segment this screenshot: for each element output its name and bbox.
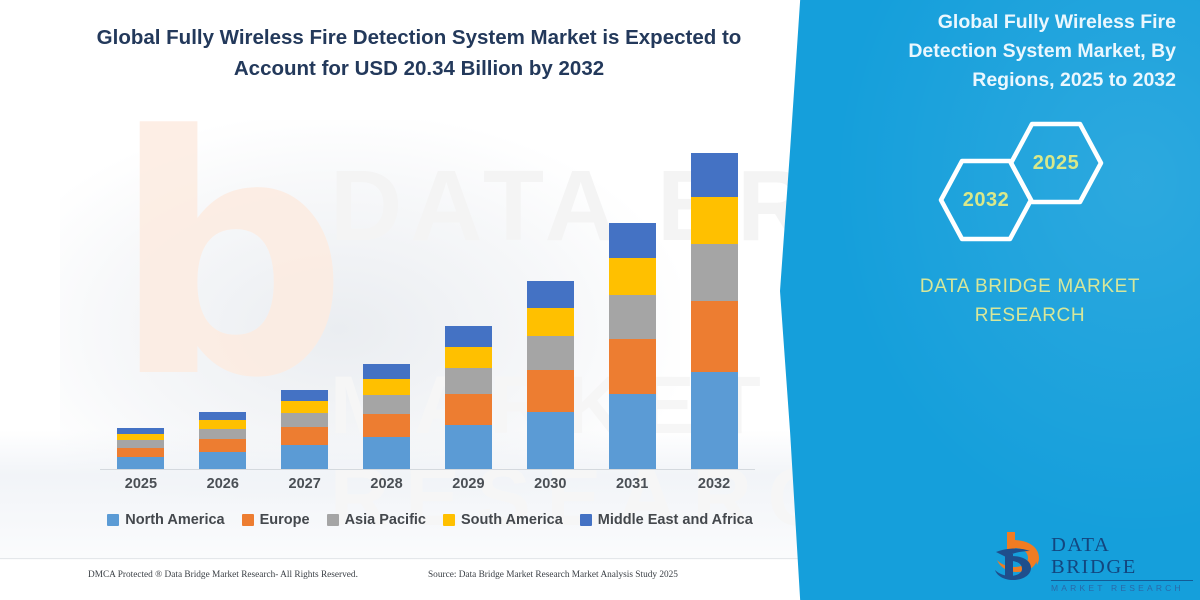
stacked-bar — [117, 428, 164, 469]
stacked-bar — [281, 390, 328, 469]
bar-segment — [609, 223, 656, 258]
legend-item[interactable]: Europe — [242, 512, 310, 528]
stacked-bar — [199, 412, 246, 469]
x-axis-label: 2026 — [182, 476, 264, 492]
x-axis-labels: 20252026202720282029203020312032 — [100, 476, 755, 492]
bar-segment — [609, 258, 656, 295]
bar-segment — [445, 394, 492, 426]
bar-segment — [691, 197, 738, 244]
legend-swatch-icon — [327, 514, 339, 526]
legend-label: North America — [125, 512, 224, 528]
hexagon-2025-label: 2025 — [1033, 152, 1080, 175]
bar-segment — [609, 394, 656, 469]
legend-label: Europe — [260, 512, 310, 528]
bar-segment — [281, 427, 328, 445]
chart-legend: North AmericaEuropeAsia PacificSouth Ame… — [100, 512, 760, 528]
bar-segment — [363, 364, 410, 379]
company-logo: DATA BRIDGE MARKET RESEARCH — [993, 528, 1193, 584]
right-panel-title: Global Fully Wireless Fire Detection Sys… — [846, 8, 1176, 95]
bar-segment — [445, 425, 492, 469]
bar-segment — [199, 452, 246, 469]
hexagon-2025: 2025 — [1008, 121, 1104, 205]
bar-segment — [445, 347, 492, 368]
stacked-bar — [691, 153, 738, 469]
legend-swatch-icon — [580, 514, 592, 526]
chart-column — [509, 141, 591, 469]
bar-segment — [199, 420, 246, 429]
bar-segment — [363, 395, 410, 414]
legend-swatch-icon — [443, 514, 455, 526]
logo-name-bottom: MARKET RESEARCH — [1051, 583, 1193, 594]
bar-segment — [527, 308, 574, 336]
x-axis-label: 2030 — [509, 476, 591, 492]
page-title: Global Fully Wireless Fire Detection Sys… — [56, 22, 782, 84]
chart-column — [346, 141, 428, 469]
bar-segment — [527, 281, 574, 307]
x-axis-line — [100, 469, 755, 470]
bar-segment — [363, 437, 410, 469]
chart-column — [264, 141, 346, 469]
legend-item[interactable]: South America — [443, 512, 563, 528]
x-axis-label: 2028 — [346, 476, 428, 492]
bar-segment — [527, 336, 574, 370]
x-axis-label: 2031 — [591, 476, 673, 492]
bar-segment — [199, 439, 246, 452]
stacked-bar — [527, 281, 574, 469]
bar-segment — [445, 326, 492, 346]
bar-segment — [117, 440, 164, 448]
stacked-bar — [363, 364, 410, 469]
hexagon-2032-label: 2032 — [963, 189, 1010, 212]
legend-swatch-icon — [107, 514, 119, 526]
stacked-bar — [445, 326, 492, 469]
bar-segment — [691, 153, 738, 197]
footer-divider — [0, 558, 820, 559]
chart-column — [428, 141, 510, 469]
footer-copyright: DMCA Protected ® Data Bridge Market Rese… — [88, 570, 358, 580]
legend-item[interactable]: Asia Pacific — [327, 512, 426, 528]
bar-segment — [117, 457, 164, 469]
logo-text: DATA BRIDGE MARKET RESEARCH — [1051, 534, 1193, 594]
logo-divider — [1051, 580, 1193, 581]
bar-segment — [281, 390, 328, 401]
bar-segment — [609, 339, 656, 394]
chart-column — [673, 141, 755, 469]
stacked-bar-chart — [100, 140, 760, 470]
footer-source: Source: Data Bridge Market Research Mark… — [428, 570, 678, 580]
logo-name-top: DATA BRIDGE — [1051, 534, 1193, 578]
bar-segment — [609, 295, 656, 339]
panel-brand-text: DATA BRIDGE MARKET RESEARCH — [880, 272, 1180, 330]
infographic-root: b DATA BRIDGE MARKET RESEARCH Global Ful… — [0, 0, 1200, 600]
chart-plot-area — [100, 141, 755, 469]
x-axis-label: 2025 — [100, 476, 182, 492]
chart-column — [591, 141, 673, 469]
bar-segment — [281, 401, 328, 413]
bar-segment — [199, 412, 246, 420]
chart-column — [100, 141, 182, 469]
bar-segment — [281, 445, 328, 469]
x-axis-label: 2029 — [428, 476, 510, 492]
bar-segment — [117, 448, 164, 457]
bar-segment — [363, 379, 410, 395]
bar-segment — [691, 301, 738, 372]
data-bridge-logo-icon — [993, 530, 1045, 580]
bar-segment — [527, 370, 574, 412]
legend-item[interactable]: Middle East and Africa — [580, 512, 753, 528]
bar-segment — [691, 372, 738, 469]
legend-item[interactable]: North America — [107, 512, 224, 528]
legend-label: South America — [461, 512, 563, 528]
chart-column — [182, 141, 264, 469]
legend-swatch-icon — [242, 514, 254, 526]
bar-segment — [199, 429, 246, 440]
bar-segment — [281, 413, 328, 428]
x-axis-label: 2027 — [264, 476, 346, 492]
legend-label: Asia Pacific — [345, 512, 426, 528]
bar-segment — [445, 368, 492, 394]
bar-segment — [527, 412, 574, 469]
stacked-bar — [609, 223, 656, 469]
x-axis-label: 2032 — [673, 476, 755, 492]
legend-label: Middle East and Africa — [598, 512, 753, 528]
bar-segment — [363, 414, 410, 437]
bar-segment — [691, 244, 738, 301]
